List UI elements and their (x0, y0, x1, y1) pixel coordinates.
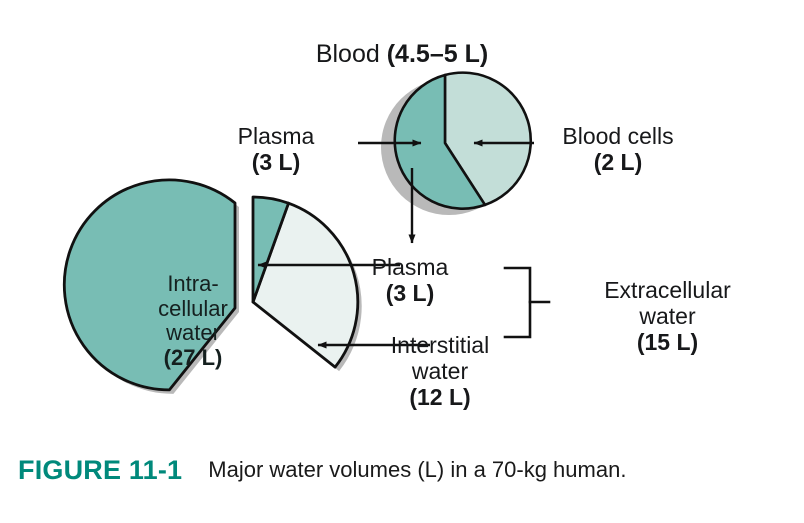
interstitial-value: (12 L) (350, 385, 530, 411)
interstitial-name-line1: Interstitial (391, 332, 489, 358)
label-blood-plasma: Plasma (3 L) (196, 124, 356, 176)
label-body-plasma: Plasma (3 L) (320, 255, 500, 307)
extracellular-name-line2: water (560, 304, 775, 330)
figure-caption: FIGURE 11-1 Major water volumes (L) in a… (0, 448, 804, 492)
body-plasma-value: (3 L) (320, 281, 500, 307)
label-extracellular-water: Extracellular water (15 L) (560, 278, 775, 355)
blood-cells-name: Blood cells (562, 123, 673, 149)
extracellular-bracket (505, 268, 549, 337)
figure-number-label: FIGURE 11-1 (18, 455, 182, 486)
intracellular-name-line3: water (128, 321, 258, 346)
body-plasma-name: Plasma (372, 254, 449, 280)
intracellular-value: (27 L) (128, 346, 258, 371)
extracellular-value: (15 L) (560, 330, 775, 356)
intracellular-name-line1: Intra- (167, 271, 218, 296)
label-intracellular-water: Intra- cellular water (27 L) (128, 272, 258, 371)
intracellular-name-line2: cellular (128, 297, 258, 322)
figure-11-1: Blood (4.5–5 L) Plasma (3 L) Blood cells… (0, 0, 804, 523)
extracellular-name-line1: Extracellular (604, 277, 731, 303)
blood-title-name: Blood (316, 40, 380, 68)
label-interstitial-water: Interstitial water (12 L) (350, 333, 530, 410)
interstitial-name-line2: water (350, 359, 530, 385)
blood-plasma-value: (3 L) (196, 150, 356, 176)
figure-caption-text: Major water volumes (L) in a 70-kg human… (208, 457, 626, 483)
label-blood-cells: Blood cells (2 L) (528, 124, 708, 176)
blood-plasma-name: Plasma (238, 123, 315, 149)
blood-title-value: (4.5–5 L) (387, 40, 488, 68)
blood-cells-value: (2 L) (528, 150, 708, 176)
blood-pie-title: Blood (4.5–5 L) (0, 40, 804, 68)
